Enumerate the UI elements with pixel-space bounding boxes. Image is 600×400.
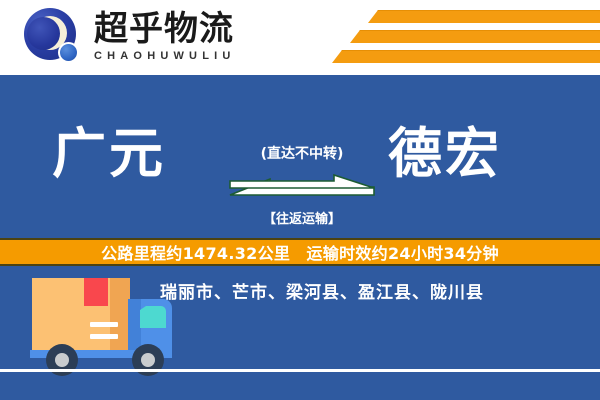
banner-body: 广元 (直达不中转) 【往返运输】 德宏 公路里程约1474.32公里 运输时效… <box>0 75 600 400</box>
brand-logo[interactable]: 超乎物流 CHAOHUWULIU <box>22 6 236 68</box>
route-info-bar: 公路里程约1474.32公里 运输时效约24小时34分钟 <box>0 238 600 266</box>
crescent-moon-circle-logo-icon <box>22 6 84 68</box>
logo-accent-dot <box>58 42 79 63</box>
truck-front-wheel-hub <box>141 353 155 367</box>
roundtrip-label: 【往返运输】 <box>228 208 376 227</box>
truck-rear-wheel-hub <box>55 353 69 367</box>
delivery-truck-icon <box>22 275 182 380</box>
direct-service-label: (直达不中转) <box>228 143 376 163</box>
truck-label-line-2 <box>90 334 118 339</box>
stripe-middle <box>350 30 600 43</box>
bottom-divider <box>0 369 600 372</box>
route-row: 广元 (直达不中转) 【往返运输】 德宏 <box>0 105 600 235</box>
brand-name-cn: 超乎物流 <box>94 12 236 48</box>
brand-text-block: 超乎物流 CHAOHUWULIU <box>94 12 236 63</box>
truck-label-line-1 <box>90 322 118 327</box>
truck-cab-shade <box>128 299 141 350</box>
destination-city: 德宏 <box>388 127 502 181</box>
route-info-text: 公路里程约1474.32公里 运输时效约24小时34分钟 <box>101 240 499 264</box>
stripe-bottom <box>332 50 600 63</box>
logistics-route-banner: 超乎物流 CHAOHUWULIU 广元 (直达不中转) 【往返运 <box>0 0 600 400</box>
banner-header: 超乎物流 CHAOHUWULIU <box>0 0 600 75</box>
origin-city: 广元 <box>52 127 166 181</box>
decorative-stripes <box>340 8 600 68</box>
brand-name-en: CHAOHUWULIU <box>94 50 236 62</box>
truck-window <box>140 306 166 328</box>
route-middle-block: (直达不中转) 【往返运输】 <box>228 105 376 235</box>
coverage-areas: 瑞丽市、芒市、梁河县、盈江县、陇川县 <box>160 278 580 303</box>
truck-cargo-shade <box>110 278 130 350</box>
logo-moon-cutout <box>27 17 60 50</box>
stripe-top <box>368 10 600 23</box>
truck-tape-strip <box>84 278 108 306</box>
bidirectional-arrow-icon <box>228 171 376 205</box>
